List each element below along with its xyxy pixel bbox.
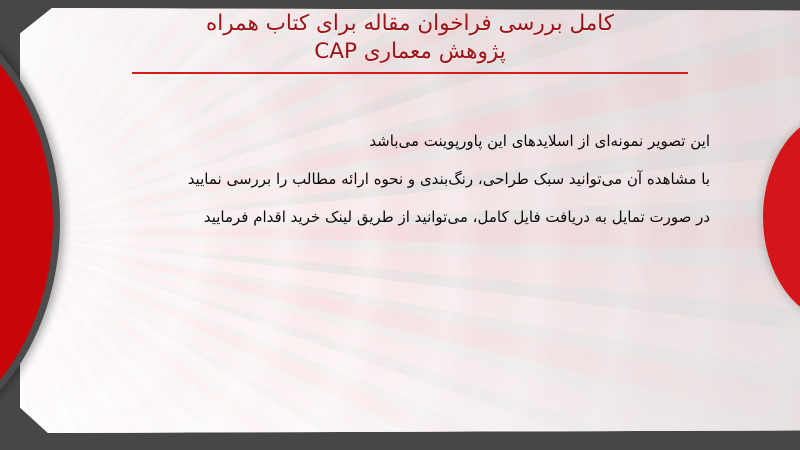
- slide-body-line-3: در صورت تمایل به دریافت فایل کامل، می‌تو…: [90, 198, 710, 236]
- slide-title-underline: [132, 72, 688, 74]
- slide-body-line-1: این تصویر نمونه‌ای از اسلایدهای این پاور…: [90, 122, 710, 160]
- slide-body-line-2: با مشاهده آن می‌توانید سبک طراحی، رنگ‌بن…: [90, 160, 710, 198]
- presentation-slide: کامل بررسی فراخوان مقاله برای کتاب همراه…: [0, 0, 800, 450]
- slide-title-line-2: پژوهش معماری CAP: [120, 38, 700, 66]
- slide-title: کامل بررسی فراخوان مقاله برای کتاب همراه…: [120, 10, 700, 74]
- slide-body: این تصویر نمونه‌ای از اسلایدهای این پاور…: [90, 122, 710, 236]
- slide-title-line-1: کامل بررسی فراخوان مقاله برای کتاب همراه: [120, 10, 700, 38]
